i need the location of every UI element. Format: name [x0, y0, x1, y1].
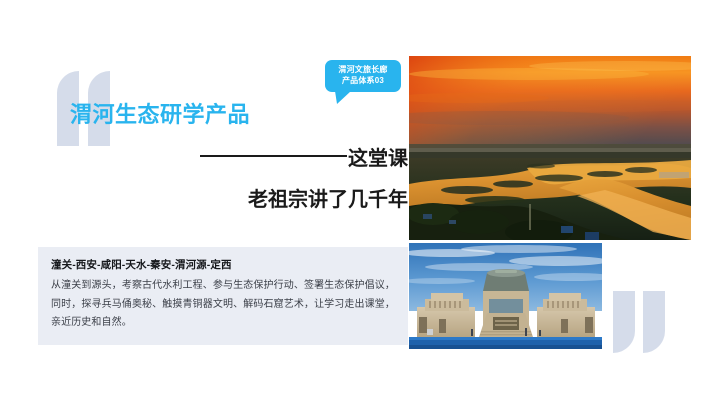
- headline-line-2: 老祖宗讲了几千年: [200, 183, 408, 212]
- category-badge-line2: 产品体系03: [330, 76, 396, 87]
- headline-line-1-text: 这堂课: [348, 142, 408, 171]
- slide-canvas: 渭河生态研学产品 渭河文旅长廊 产品体系03 这堂课 老祖宗讲了几千年 潼关-西…: [0, 0, 715, 400]
- category-badge-bubble: 渭河文旅长廊 产品体系03: [325, 60, 401, 92]
- category-badge-line1: 渭河文旅长廊: [330, 65, 396, 76]
- headline-dash-rule: [200, 155, 347, 157]
- page-title: 渭河生态研学产品: [70, 97, 250, 129]
- headline-line-1: 这堂课: [200, 142, 408, 171]
- museum-building-photo: [409, 243, 602, 349]
- route-description: 从潼关到源头，考察古代水利工程、参与生态保护行动、签署生态保护倡议，同时，探寻兵…: [51, 277, 395, 333]
- category-badge: 渭河文旅长廊 产品体系03: [325, 60, 401, 92]
- route-title: 潼关-西安-咸阳-天水-秦安-渭河源-定西: [51, 257, 395, 272]
- close-quote-icon: [613, 291, 665, 353]
- weihe-river-sunset-photo: [409, 56, 691, 240]
- info-panel: 潼关-西安-咸阳-天水-秦安-渭河源-定西 从潼关到源头，考察古代水利工程、参与…: [38, 247, 408, 345]
- badge-tail-icon: [335, 91, 359, 105]
